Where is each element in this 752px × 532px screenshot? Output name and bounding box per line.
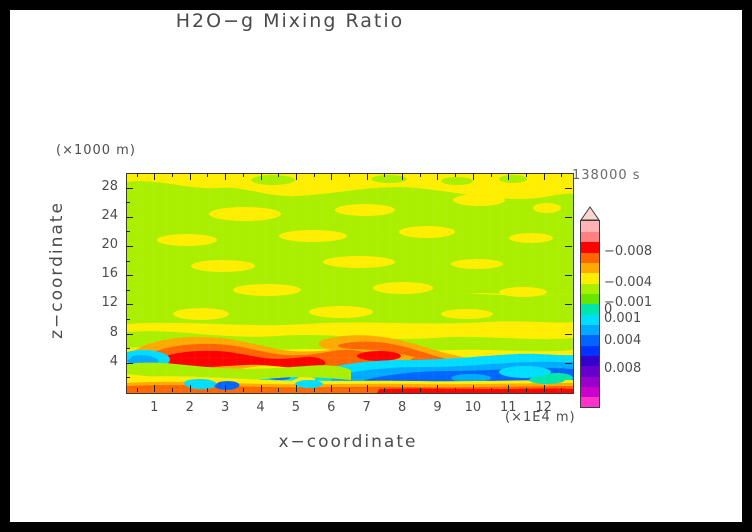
x-minor-tick: [384, 388, 385, 392]
y-axis-label: z−coordinate: [47, 185, 67, 355]
x-tick-mark: [473, 385, 474, 392]
colorbar-tick-label: −0.001: [604, 295, 652, 310]
x-minor-tick: [420, 388, 421, 392]
colorbar-band: [581, 304, 599, 315]
y-tick-mark-right: [565, 275, 572, 276]
y-minor-tick: [126, 231, 130, 232]
y-tick-mark: [126, 334, 133, 335]
x-tick-mark: [437, 385, 438, 392]
colorbar-band: [581, 314, 599, 325]
x-tick-label: 3: [205, 400, 245, 415]
x-minor-tick-top: [420, 173, 421, 177]
x-minor-tick-top: [455, 173, 456, 177]
colorbar-band: [581, 345, 599, 356]
x-tick-mark: [296, 385, 297, 392]
y-minor-tick: [126, 348, 130, 349]
y-minor-tick: [126, 202, 130, 203]
x-tick-mark: [154, 385, 155, 392]
colorbar-band: [581, 355, 599, 366]
x-minor-tick: [278, 388, 279, 392]
x-minor-tick: [349, 388, 350, 392]
x-minor-tick-top: [526, 173, 527, 177]
x-minor-tick: [172, 388, 173, 392]
figure-page: H2O−g Mixing Ratio (×1000 m) 138000 s z−…: [0, 0, 752, 532]
colorbar-tick-label: −0.004: [604, 275, 652, 290]
y-tick-mark: [126, 246, 133, 247]
y-tick-label: 4: [70, 354, 118, 369]
x-axis-label: x−coordinate: [178, 432, 518, 452]
x-minor-tick-top: [278, 173, 279, 177]
x-tick-label: 4: [241, 400, 281, 415]
colorbar-tick-label: −0.008: [604, 244, 652, 259]
x-minor-tick-top: [243, 173, 244, 177]
y-minor-tick: [126, 261, 130, 262]
colorbar-band: [581, 376, 599, 387]
y-tick-mark: [126, 275, 133, 276]
y-tick-mark: [126, 304, 133, 305]
x-minor-tick: [526, 388, 527, 392]
x-tick-mark-top: [296, 173, 297, 180]
x-tick-mark: [225, 385, 226, 392]
x-tick-mark: [544, 385, 545, 392]
x-minor-tick-top: [207, 173, 208, 177]
x-minor-tick: [207, 388, 208, 392]
x-minor-tick-top: [137, 173, 138, 177]
x-minor-tick: [314, 388, 315, 392]
x-minor-tick: [243, 388, 244, 392]
x-tick-mark-top: [544, 173, 545, 180]
colorbar-band: [581, 324, 599, 335]
x-tick-mark: [367, 385, 368, 392]
y-tick-mark-right: [565, 246, 572, 247]
x-tick-label: 10: [453, 400, 493, 415]
y-tick-mark-right: [565, 363, 572, 364]
colorbar-band: [581, 283, 599, 294]
x-minor-tick-top: [384, 173, 385, 177]
x-tick-mark-top: [473, 173, 474, 180]
colorbar-band: [581, 293, 599, 304]
y-tick-label: 12: [70, 295, 118, 310]
x-tick-mark: [261, 385, 262, 392]
time-annotation: 138000 s: [572, 168, 641, 183]
y-tick-mark-right: [565, 188, 572, 189]
x-tick-mark: [190, 385, 191, 392]
y-tick-label: 24: [70, 208, 118, 223]
y-tick-label: 20: [70, 237, 118, 252]
x-tick-label: 8: [382, 400, 422, 415]
x-minor-tick: [561, 388, 562, 392]
x-tick-mark-top: [261, 173, 262, 180]
x-tick-label: 9: [417, 400, 457, 415]
plot-canvas: H2O−g Mixing Ratio (×1000 m) 138000 s z−…: [10, 10, 742, 522]
colorbar-band: [581, 242, 599, 253]
x-tick-mark-top: [402, 173, 403, 180]
contour-plot-area: [126, 173, 574, 394]
y-tick-mark-right: [565, 217, 572, 218]
colorbar-band: [581, 231, 599, 242]
x-minor-tick-top: [314, 173, 315, 177]
x-tick-mark: [331, 385, 332, 392]
x-tick-mark-top: [190, 173, 191, 180]
contour-field: [127, 174, 573, 393]
y-tick-label: 8: [70, 325, 118, 340]
y-axis-unit-label: (×1000 m): [56, 143, 136, 158]
x-tick-label: 6: [311, 400, 351, 415]
x-tick-mark-top: [331, 173, 332, 180]
colorbar-tick-label: 0.004: [604, 333, 641, 348]
x-tick-label: 5: [276, 400, 316, 415]
x-tick-mark-top: [225, 173, 226, 180]
chart-title: H2O−g Mixing Ratio: [10, 10, 570, 32]
colorbar-top-arrow: [580, 206, 600, 221]
colorbar-band: [581, 386, 599, 397]
colorbar-band: [581, 273, 599, 284]
x-tick-mark-top: [367, 173, 368, 180]
colorbar-bands: [580, 220, 600, 408]
y-tick-mark: [126, 188, 133, 189]
y-tick-mark-right: [565, 334, 572, 335]
x-tick-label: 7: [347, 400, 387, 415]
colorbar-band: [581, 262, 599, 273]
x-axis-unit-label: (×1E4 m): [505, 410, 576, 425]
x-tick-label: 2: [170, 400, 210, 415]
colorbar-tick-label: 0.008: [604, 361, 641, 376]
x-tick-label: 1: [134, 400, 174, 415]
y-minor-tick: [126, 377, 130, 378]
y-minor-tick: [126, 290, 130, 291]
y-tick-label: 16: [70, 266, 118, 281]
y-tick-mark-right: [565, 304, 572, 305]
y-tick-mark: [126, 217, 133, 218]
x-tick-mark-top: [508, 173, 509, 180]
x-minor-tick-top: [172, 173, 173, 177]
y-minor-tick: [126, 319, 130, 320]
colorbar-band: [581, 252, 599, 263]
x-tick-mark-top: [437, 173, 438, 180]
y-tick-label: 28: [70, 179, 118, 194]
colorbar-band: [581, 397, 599, 408]
x-tick-mark-top: [154, 173, 155, 180]
colorbar-band: [581, 335, 599, 346]
x-minor-tick: [491, 388, 492, 392]
colorbar-band: [581, 366, 599, 377]
x-minor-tick-top: [561, 173, 562, 177]
x-minor-tick-top: [491, 173, 492, 177]
x-tick-mark: [508, 385, 509, 392]
colorbar-band: [581, 221, 599, 232]
x-minor-tick-top: [349, 173, 350, 177]
x-minor-tick: [455, 388, 456, 392]
y-tick-mark: [126, 363, 133, 364]
x-minor-tick: [137, 388, 138, 392]
x-tick-mark: [402, 385, 403, 392]
